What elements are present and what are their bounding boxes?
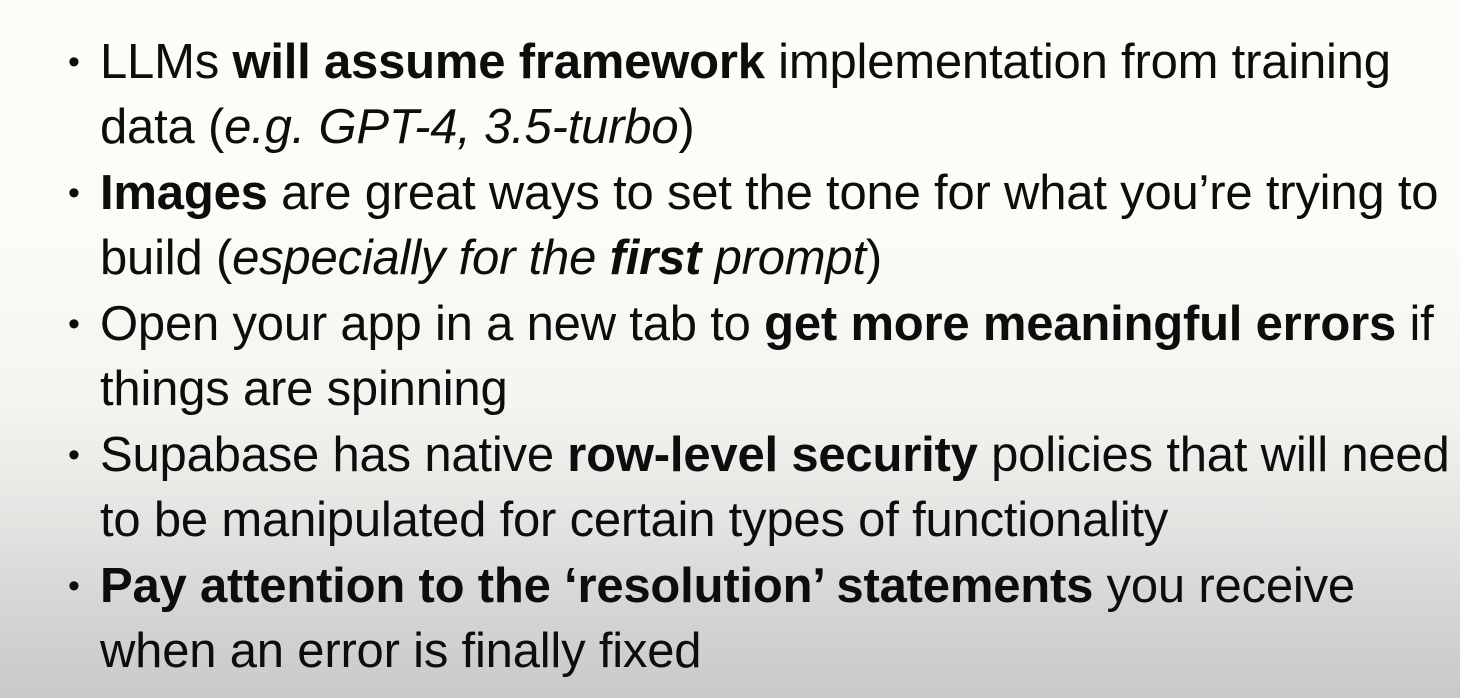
bullet-point-icon: •	[68, 30, 82, 95]
list-item-text: Images are great ways to set the tone fo…	[100, 166, 1438, 285]
text-run: Pay attention to the ‘resolution’ statem…	[100, 559, 1093, 613]
list-item-text: Supabase has native row-level security p…	[100, 428, 1450, 547]
list-item: •Open your app in a new tab to get more …	[60, 292, 1452, 422]
list-item-text: Open your app in a new tab to get more m…	[100, 297, 1434, 416]
slide-canvas: •LLMs will assume framework implementati…	[0, 0, 1460, 698]
list-item: •Images are great ways to set the tone f…	[60, 161, 1452, 291]
list-item-text: Pay attention to the ‘resolution’ statem…	[100, 559, 1355, 678]
text-run: get more meaningful errors	[764, 297, 1396, 351]
text-run: )	[678, 100, 694, 154]
bullet-point-icon: •	[68, 554, 82, 619]
text-run: first	[610, 231, 702, 285]
text-run: Open your app in a new tab to	[100, 297, 764, 351]
list-item: •Supabase has native row-level security …	[60, 423, 1452, 553]
text-run: row-level security	[567, 428, 977, 482]
list-item: •LLMs will assume framework implementati…	[60, 30, 1452, 160]
list-item: •Pay attention to the ‘resolution’ state…	[60, 554, 1452, 684]
text-run: especially for the	[232, 231, 610, 285]
bullet-point-icon: •	[68, 423, 82, 488]
bullet-point-icon: •	[68, 161, 82, 226]
list-item-text: LLMs will assume framework implementatio…	[100, 35, 1391, 154]
text-run: prompt	[701, 231, 866, 285]
bullet-list: •LLMs will assume framework implementati…	[60, 30, 1452, 685]
text-run: )	[866, 231, 882, 285]
text-run: LLMs	[100, 35, 232, 89]
text-run: Images	[100, 166, 268, 220]
text-run: e.g. GPT-4, 3.5-turbo	[224, 100, 678, 154]
bullet-point-icon: •	[68, 292, 82, 357]
text-run: will assume framework	[232, 35, 764, 89]
text-run: Supabase has native	[100, 428, 567, 482]
